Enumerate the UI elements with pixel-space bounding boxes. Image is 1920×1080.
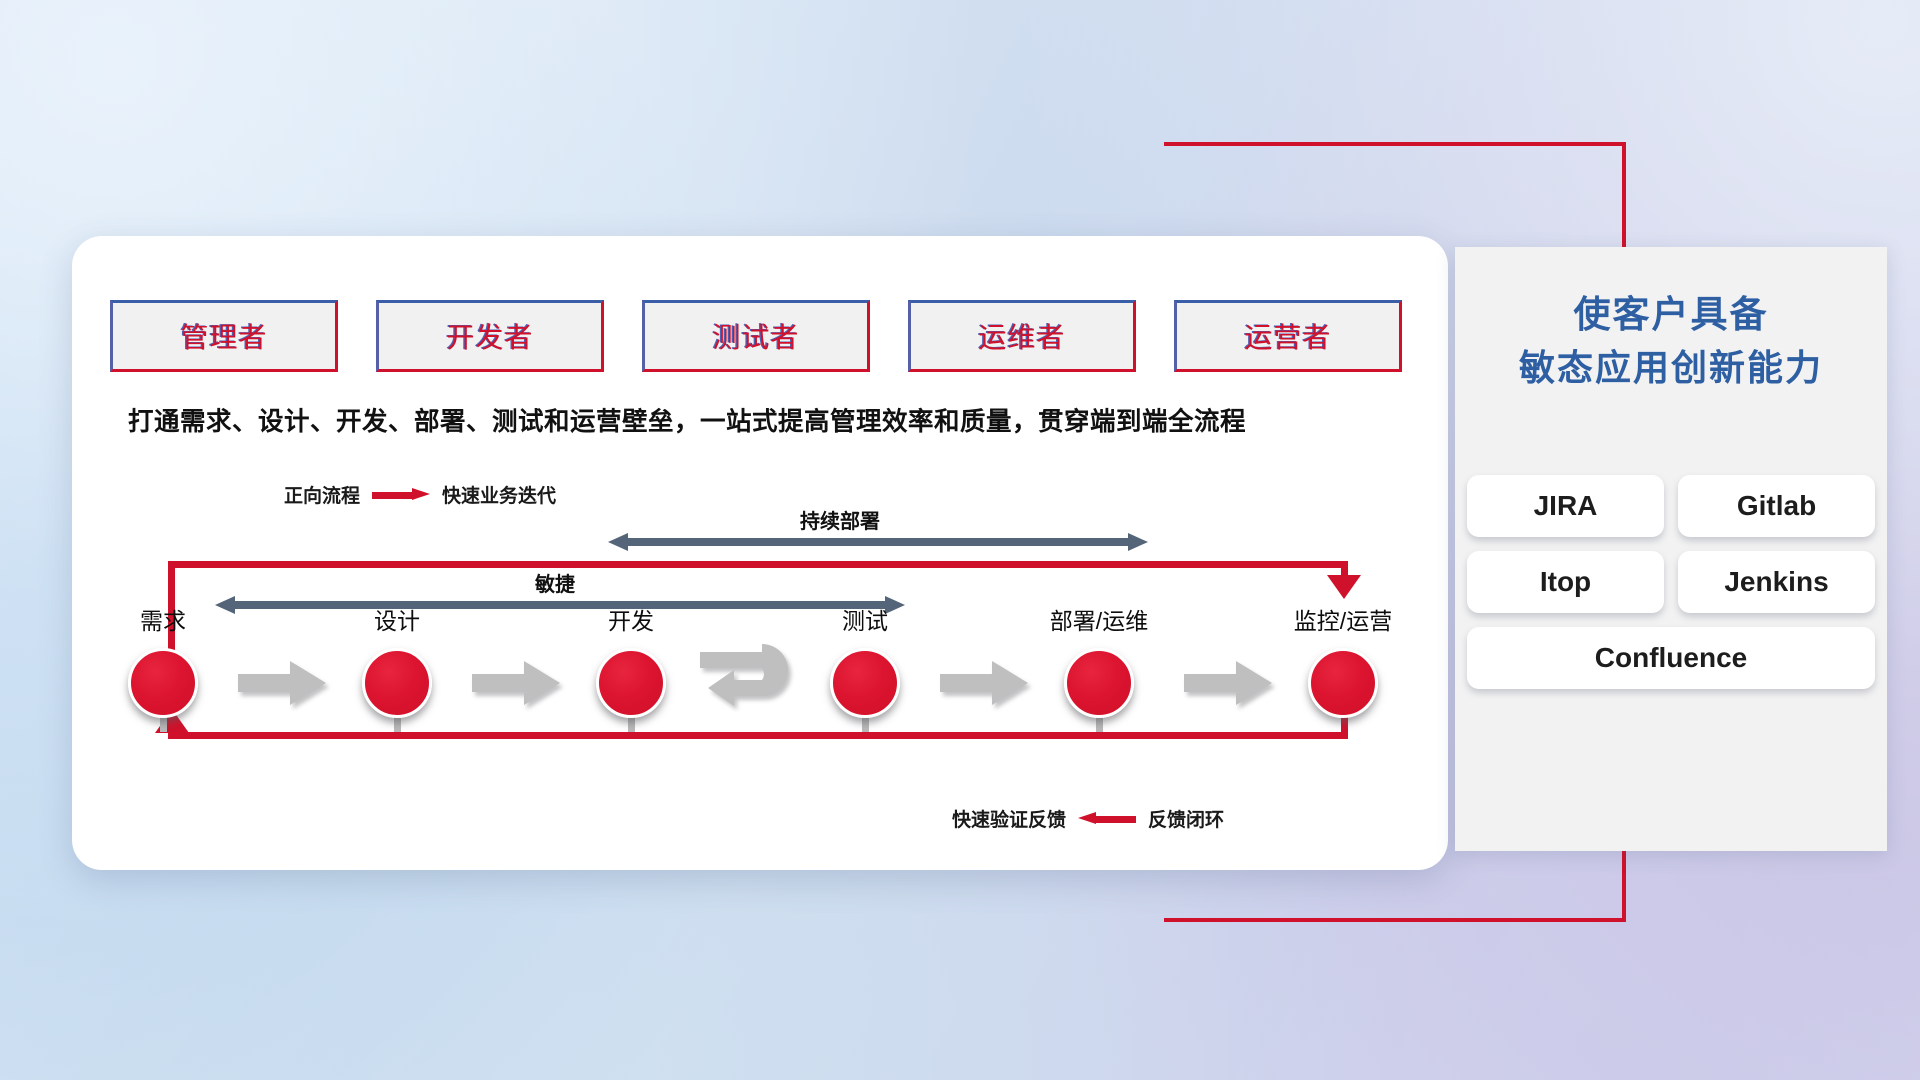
chevron-arrow-4-icon — [1184, 661, 1272, 705]
role-box-operations[interactable]: 运营者 — [1174, 300, 1402, 372]
role-label: 测试者 — [712, 316, 799, 356]
tool-chip-jira[interactable]: JIRA — [1467, 475, 1664, 537]
legend-forward-left-label: 正向流程 — [284, 481, 360, 508]
flow-node-monitor-operations[interactable]: 监控/运营 — [1308, 648, 1378, 718]
role-label: 运维者 — [978, 316, 1065, 356]
flow-node-label: 部署/运维 — [1050, 602, 1148, 636]
legend-feedback-left-label: 快速验证反馈 — [952, 805, 1066, 832]
flow-node-dot — [1308, 648, 1378, 718]
double-arrow-agile-icon — [215, 596, 905, 614]
chevron-arrow-1-icon — [238, 661, 326, 705]
tool-chip-itop[interactable]: Itop — [1467, 551, 1664, 613]
flow-node-development[interactable]: 开发 — [596, 648, 666, 718]
tool-chip-gitlab[interactable]: Gitlab — [1678, 475, 1875, 537]
legend-forward-flow: 正向流程 快速业务迭代 — [284, 481, 556, 508]
panel-title-line1: 使客户具备 — [1574, 294, 1769, 335]
flow-node-requirements[interactable]: 需求 — [128, 648, 198, 718]
tool-chip-confluence[interactable]: Confluence — [1467, 627, 1875, 689]
flow-node-dot — [1064, 648, 1134, 718]
tool-chip-group: JIRA Gitlab Itop Jenkins Confluence — [1467, 475, 1875, 689]
role-box-manager[interactable]: 管理者 — [110, 300, 338, 372]
tool-chip-jenkins[interactable]: Jenkins — [1678, 551, 1875, 613]
flow-node-label: 设计 — [374, 602, 420, 636]
red-arrow-left-icon — [1078, 812, 1136, 825]
panel-title: 使客户具备 敏态应用创新能力 — [1455, 289, 1887, 393]
span-label-agile: 敏捷 — [535, 568, 575, 597]
red-arrow-right-icon — [372, 488, 430, 501]
double-arrow-continuous-deployment-icon — [608, 533, 1148, 551]
role-box-tester[interactable]: 测试者 — [642, 300, 870, 372]
role-box-group: 管理者 开发者 测试者 运维者 运营者 — [110, 300, 1402, 372]
flow-node-label: 需求 — [140, 602, 186, 636]
flow-node-testing[interactable]: 测试 — [830, 648, 900, 718]
panel-title-line2: 敏态应用创新能力 — [1455, 342, 1887, 393]
role-box-ops[interactable]: 运维者 — [908, 300, 1136, 372]
role-label: 开发者 — [446, 316, 533, 356]
legend-feedback-loop: 快速验证反馈 反馈闭环 — [952, 805, 1224, 832]
flow-node-deploy-ops[interactable]: 部署/运维 — [1064, 648, 1134, 718]
role-box-developer[interactable]: 开发者 — [376, 300, 604, 372]
rework-loop-arrow-icon — [700, 644, 816, 720]
flow-node-label: 测试 — [842, 602, 888, 636]
flow-node-design[interactable]: 设计 — [362, 648, 432, 718]
feedback-loop-down-arrowhead-icon — [1327, 575, 1361, 599]
red-frame-top-stub — [1164, 142, 1284, 146]
flow-node-label: 监控/运营 — [1294, 602, 1392, 636]
flow-node-label: 开发 — [608, 602, 654, 636]
flow-node-dot — [596, 648, 666, 718]
role-label: 运营者 — [1244, 316, 1331, 356]
headline-statement: 打通需求、设计、开发、部署、测试和运营壁垒，一站式提高管理效率和质量，贯穿端到端… — [128, 401, 1428, 438]
legend-forward-right-label: 快速业务迭代 — [442, 481, 556, 508]
flow-node-dot — [830, 648, 900, 718]
red-frame-bottom-stub — [1164, 918, 1284, 922]
legend-feedback-right-label: 反馈闭环 — [1148, 805, 1224, 832]
feedback-loop-bottom-line — [168, 732, 1348, 739]
chevron-arrow-2-icon — [472, 661, 560, 705]
value-proposition-panel: 使客户具备 敏态应用创新能力 JIRA Gitlab Itop Jenkins … — [1455, 247, 1887, 851]
role-label: 管理者 — [180, 316, 267, 356]
flow-node-dot — [128, 648, 198, 718]
chevron-arrow-3-icon — [940, 661, 1028, 705]
flow-node-dot — [362, 648, 432, 718]
feedback-loop-top-line — [168, 561, 1348, 568]
span-label-continuous-deployment: 持续部署 — [800, 505, 880, 534]
